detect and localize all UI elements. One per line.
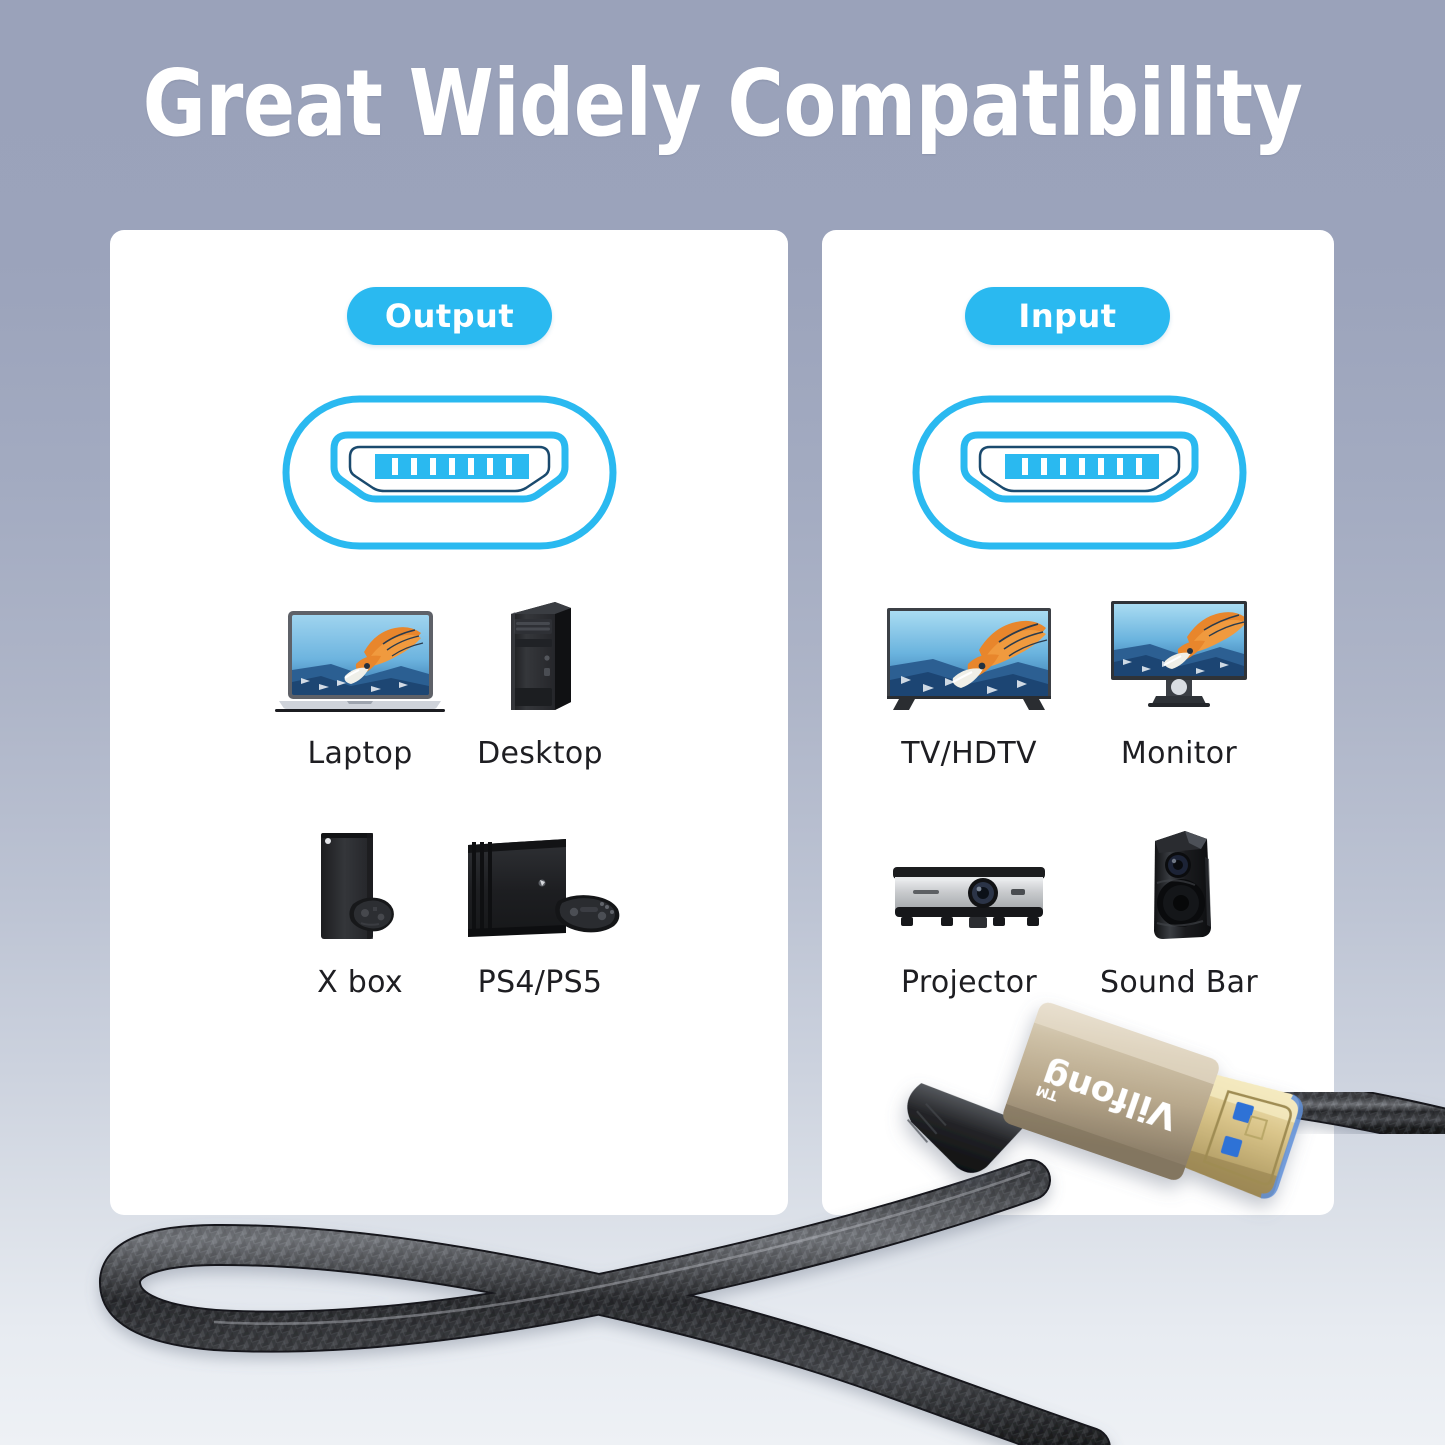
- hdmi-connector: Vilfong TM: [0, 0, 1445, 1445]
